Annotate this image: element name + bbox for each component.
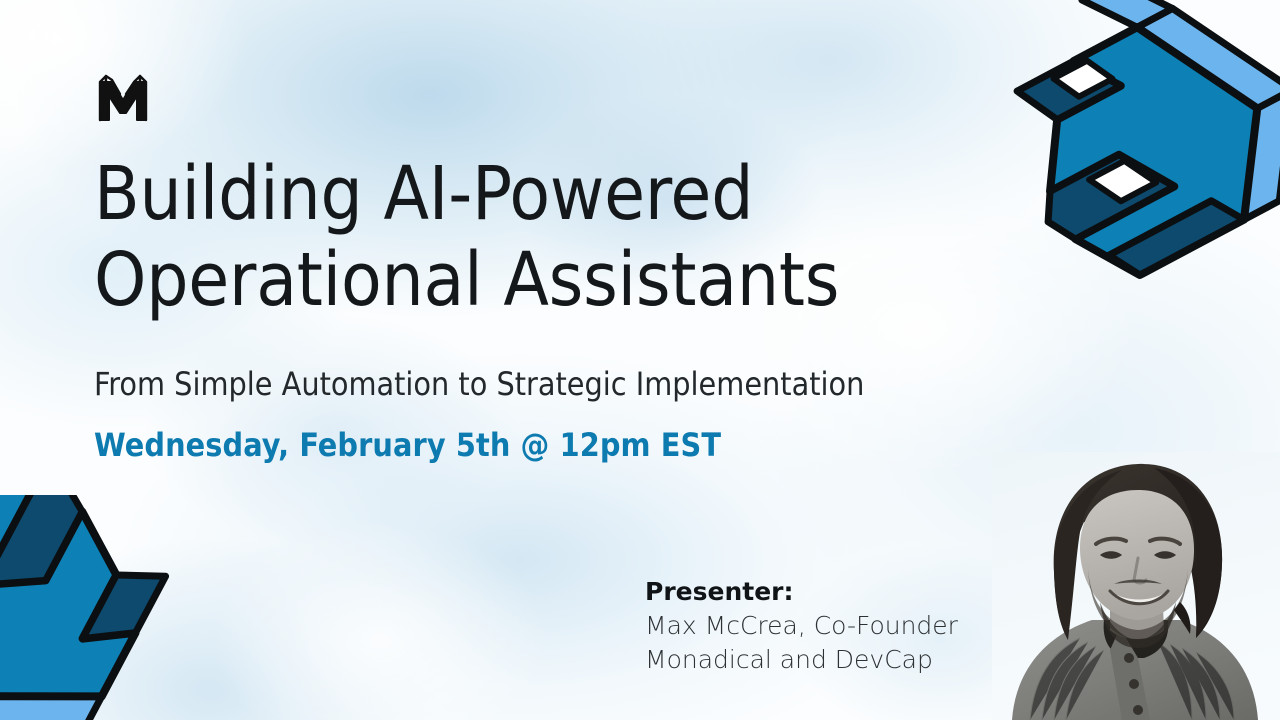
presenter-organizations: Monadical and DevCap (645, 643, 985, 677)
isometric-m-logo-top-right (975, 0, 1280, 322)
slide-canvas: Building AI-Powered Operational Assistan… (0, 0, 1280, 720)
page-title: Building AI-Powered Operational Assistan… (94, 152, 974, 324)
presenter-label: Presenter: (645, 575, 985, 609)
event-datetime: Wednesday, February 5th @ 12pm EST (94, 426, 974, 464)
isometric-m-logo-bottom-left (0, 495, 190, 720)
presenter-name: Max McCrea, Co-Founder (645, 609, 985, 643)
subtitle: From Simple Automation to Strategic Impl… (94, 364, 974, 404)
presenter-headshot-max-mccrea (992, 452, 1280, 720)
presenter-block: Presenter: Max McCrea, Co-Founder Monadi… (645, 575, 985, 676)
monadical-m-monogram (94, 70, 152, 128)
headline-block: Building AI-Powered Operational Assistan… (94, 152, 974, 464)
